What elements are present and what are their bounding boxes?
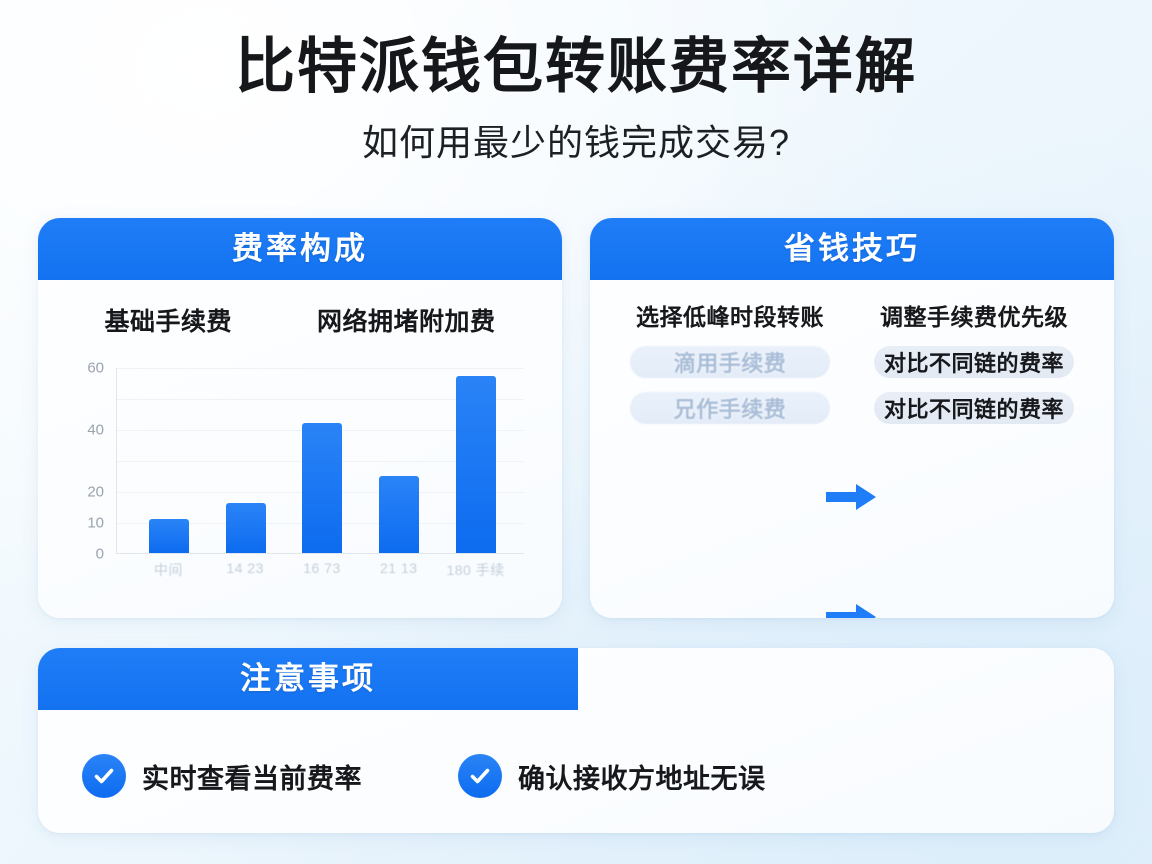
page-header: 比特派钱包转账费率详解 如何用最少的钱完成交易?	[0, 34, 1152, 166]
tips-step-batch-fee: 兄作手续费	[630, 392, 830, 424]
x-axis-labels: 中间14 2316 7321 13180 手续	[116, 560, 524, 580]
bar-series	[117, 368, 524, 553]
card-saving-tips-title: 省钱技巧	[590, 218, 1114, 280]
bar	[149, 519, 189, 553]
infographic-page: 比特派钱包转账费率详解 如何用最少的钱完成交易? 费率构成 基础手续费 网络拥堵…	[0, 0, 1152, 864]
note-text-realtime-rate: 实时查看当前费率	[142, 757, 362, 796]
bar	[302, 423, 342, 553]
arrow-right-icon	[826, 602, 878, 618]
tips-step-compare-chains-1: 对比不同链的费率	[874, 346, 1074, 378]
tips-heading-off-peak: 选择低峰时段转账	[636, 298, 824, 332]
notes-list: 实时查看当前费率 确认接收方地址无误	[82, 754, 766, 798]
y-axis-tick: 0	[96, 546, 104, 563]
x-axis-label: 14 23	[212, 560, 278, 580]
legend-item-base-fee: 基础手续费	[104, 302, 232, 338]
arrow-right-icon	[826, 482, 878, 512]
page-title: 比特派钱包转账费率详解	[0, 34, 1152, 100]
legend-item-congestion-fee: 网络拥堵附加费	[317, 302, 496, 338]
card-notes: 注意事项 实时查看当前费率	[38, 648, 1114, 833]
bar	[226, 503, 266, 553]
check-circle-icon	[458, 754, 502, 798]
bar	[456, 376, 496, 553]
note-text-verify-address: 确认接收方地址无误	[518, 757, 766, 796]
x-axis-label: 180 手续	[443, 560, 509, 580]
card-fee-composition: 费率构成 基础手续费 网络拥堵附加费 010204060 中间14 2316 7…	[38, 218, 562, 618]
plot-area	[116, 368, 524, 554]
bar-chart: 010204060 中间14 2316 7321 13180 手续	[72, 368, 524, 588]
card-fee-composition-title: 费率构成	[38, 218, 562, 280]
x-axis-label: 21 13	[366, 560, 432, 580]
card-saving-tips: 省钱技巧 选择低峰时段转账 滴用手续费	[590, 218, 1114, 618]
y-axis-tick: 10	[87, 515, 104, 532]
x-axis-label: 16 73	[289, 560, 355, 580]
chart-legend: 基础手续费 网络拥堵附加费	[38, 302, 562, 338]
x-axis-label: 中间	[135, 560, 201, 580]
y-axis-tick: 20	[87, 484, 104, 501]
tips-step-compare-chains-2: 对比不同链的费率	[874, 392, 1074, 424]
tips-heading-priority: 调整手续费优先级	[880, 298, 1068, 332]
note-item: 实时查看当前费率	[82, 754, 362, 798]
y-axis-tick: 60	[87, 360, 104, 377]
card-notes-title: 注意事项	[38, 648, 578, 710]
check-circle-icon	[82, 754, 126, 798]
y-axis: 010204060	[72, 368, 110, 554]
bar	[379, 476, 419, 554]
note-item: 确认接收方地址无误	[458, 754, 766, 798]
page-subtitle: 如何用最少的钱完成交易?	[0, 114, 1152, 166]
y-axis-tick: 40	[87, 422, 104, 439]
tips-step-reduce-fee: 滴用手续费	[630, 346, 830, 378]
